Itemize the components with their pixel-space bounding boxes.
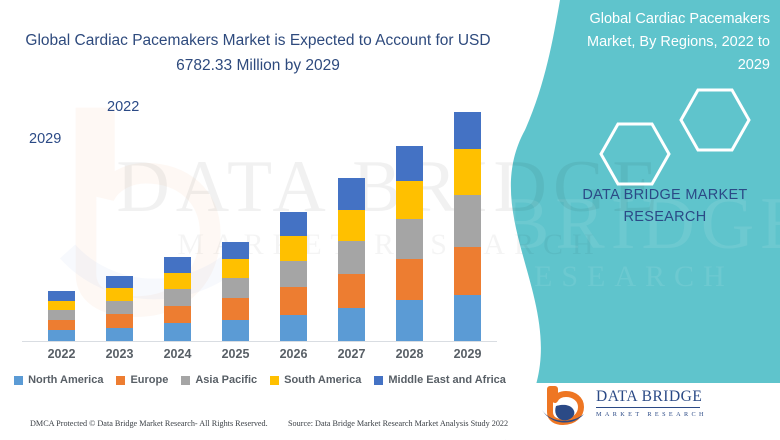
x-axis-labels: 20222023202420252026202720282029	[0, 347, 515, 367]
bar-segment-south-america	[396, 181, 423, 219]
legend-swatch-icon	[270, 376, 279, 385]
hexagon-2022-label: 2022	[107, 99, 139, 115]
legend-swatch-icon	[116, 376, 125, 385]
x-axis-label-2023: 2023	[90, 347, 150, 361]
logo-divider	[596, 407, 700, 408]
bar-segment-europe	[48, 320, 75, 330]
bar-segment-south-america	[338, 210, 365, 241]
bar-2027	[338, 178, 365, 341]
legend-label: Middle East and Africa	[388, 374, 506, 386]
legend-item-asia-pacific[interactable]: Asia Pacific	[181, 374, 257, 386]
bar-2026	[280, 212, 307, 341]
bar-2029	[454, 112, 481, 341]
legend-item-middle-east-and-africa[interactable]: Middle East and Africa	[374, 374, 506, 386]
x-axis-label-2029: 2029	[438, 347, 498, 361]
svg-text:RESEARCH: RESEARCH	[505, 260, 734, 293]
legend-item-south-america[interactable]: South America	[270, 374, 361, 386]
bar-segment-north-america	[164, 323, 191, 341]
databridge-logo-icon	[540, 386, 590, 426]
x-axis-label-2026: 2026	[264, 347, 324, 361]
legend-label: South America	[284, 374, 361, 386]
bar-segment-north-america	[222, 320, 249, 341]
x-axis-label-2028: 2028	[380, 347, 440, 361]
databridge-logo: DATA BRIDGE MARKET RESEARCH	[540, 386, 720, 430]
bar-segment-europe	[454, 247, 481, 295]
bar-segment-europe	[338, 274, 365, 308]
bar-2024	[164, 257, 191, 341]
footer-source: Source: Data Bridge Market Research Mark…	[288, 419, 508, 428]
legend-swatch-icon	[374, 376, 383, 385]
bar-2025	[222, 242, 249, 341]
chart-baseline	[22, 341, 497, 342]
bar-segment-middle-east-and-africa	[222, 242, 249, 259]
bar-segment-north-america	[396, 300, 423, 341]
bar-segment-europe	[222, 298, 249, 320]
logo-name: DATA BRIDGE	[596, 388, 707, 406]
bar-segment-europe	[280, 287, 307, 315]
bar-segment-europe	[164, 306, 191, 323]
bar-segment-middle-east-and-africa	[48, 291, 75, 301]
bar-segment-south-america	[106, 288, 133, 301]
panel-title: Global Cardiac Pacemakers Market, By Reg…	[558, 8, 770, 77]
bar-2022	[48, 291, 75, 341]
hexagon-group	[580, 88, 760, 193]
x-axis-label-2022: 2022	[32, 347, 92, 361]
bar-segment-north-america	[338, 308, 365, 341]
infographic-root: BRIDGE RESEARCH DATA BRIDGE MARKET RESEA…	[0, 0, 780, 440]
legend-label: Asia Pacific	[195, 374, 257, 386]
x-axis-label-2025: 2025	[206, 347, 266, 361]
legend-item-europe[interactable]: Europe	[116, 374, 168, 386]
bar-2028	[396, 146, 423, 341]
legend-item-north-america[interactable]: North America	[14, 374, 103, 386]
bar-segment-asia-pacific	[396, 219, 423, 259]
hexagon-2029-label: 2029	[29, 131, 61, 147]
bar-segment-asia-pacific	[222, 278, 249, 298]
bar-segment-south-america	[48, 301, 75, 310]
chart-plot-area: 20222023202420252026202720282029	[0, 0, 515, 345]
logo-wordmark: DATA BRIDGE MARKET RESEARCH	[596, 388, 707, 418]
bar-segment-asia-pacific	[454, 195, 481, 247]
bar-segment-north-america	[48, 330, 75, 341]
bar-segment-middle-east-and-africa	[396, 146, 423, 181]
bar-segment-europe	[396, 259, 423, 300]
legend-label: Europe	[130, 374, 168, 386]
panel-brand-text: DATA BRIDGE MARKET RESEARCH	[555, 184, 775, 228]
legend-label: North America	[28, 374, 103, 386]
legend-swatch-icon	[181, 376, 190, 385]
footer-copyright: DMCA Protected © Data Bridge Market Rese…	[30, 419, 268, 428]
bar-segment-asia-pacific	[48, 310, 75, 320]
bar-segment-south-america	[164, 273, 191, 289]
legend-swatch-icon	[14, 376, 23, 385]
bar-segment-middle-east-and-africa	[454, 112, 481, 149]
bar-segment-asia-pacific	[106, 301, 133, 314]
x-axis-label-2024: 2024	[148, 347, 208, 361]
chart-legend: North AmericaEuropeAsia PacificSouth Ame…	[10, 374, 510, 386]
bar-segment-south-america	[280, 236, 307, 261]
bar-segment-north-america	[106, 328, 133, 341]
x-axis-label-2027: 2027	[322, 347, 382, 361]
bar-segment-north-america	[280, 315, 307, 341]
bar-segment-asia-pacific	[338, 241, 365, 274]
bar-2023	[106, 276, 133, 341]
bar-segment-middle-east-and-africa	[280, 212, 307, 236]
bar-segment-north-america	[454, 295, 481, 341]
bar-segment-asia-pacific	[164, 289, 191, 306]
bar-segment-asia-pacific	[280, 261, 307, 287]
logo-tagline: MARKET RESEARCH	[596, 411, 707, 418]
bar-segment-middle-east-and-africa	[338, 178, 365, 210]
footer: DMCA Protected © Data Bridge Market Rese…	[0, 419, 520, 435]
hexagon-2029-icon	[601, 124, 669, 184]
bar-segment-middle-east-and-africa	[106, 276, 133, 288]
bar-segment-europe	[106, 314, 133, 328]
bar-segment-south-america	[222, 259, 249, 278]
bar-segment-south-america	[454, 149, 481, 195]
hexagon-2022-icon	[681, 90, 749, 150]
bar-segment-middle-east-and-africa	[164, 257, 191, 273]
